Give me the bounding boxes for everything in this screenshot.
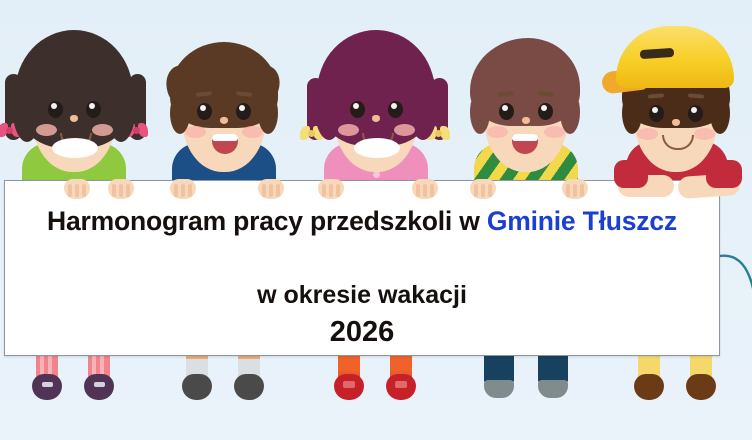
cheek-right [694,128,715,140]
eye-right [688,105,703,122]
cheek-right [242,126,263,138]
eye-right [86,101,101,118]
hand-right [108,179,134,199]
eye-left [350,101,365,118]
title-line-3-year: 2026 [5,316,719,349]
shoe-left [32,374,62,400]
sleeve-right [706,160,742,188]
hair-sideburn-left [622,92,642,134]
hand-left [470,179,496,199]
title-accent: Gminie Tłuszcz [487,206,677,236]
cheek-left [185,126,206,138]
title-line-1: Harmonogram pracy przedszkoli w Gminie T… [5,206,719,237]
cheek-left [637,128,658,140]
eye-right [388,101,403,118]
hair-sideburn-right [710,92,730,134]
hair-sideburn-right [560,90,580,134]
hand-left [318,179,344,199]
shoe-left [634,374,664,400]
cheek-left [338,124,359,136]
shoe-left [182,374,212,400]
cheek-right [394,124,415,136]
hair-sideburn-left [470,90,490,134]
cheek-right [92,124,113,136]
eye-right [236,103,251,120]
title-prefix: Harmonogram pracy przedszkoli w [47,206,487,236]
nose [522,117,530,124]
sleeve-left [614,160,648,188]
eye-left [197,103,212,120]
eye-left [48,101,63,118]
curved-line-right-icon [718,216,752,346]
cheek-left [36,124,57,136]
eye-right [538,103,553,120]
nose [372,115,380,122]
eye-left [499,103,514,120]
hand-right [562,179,588,199]
hand-left [170,179,196,199]
hand-right [258,179,284,199]
nose [70,115,78,122]
title-line-2: w okresie wakacji [5,281,719,310]
shoe-right [686,374,716,400]
nose [220,117,228,124]
eye-left [649,105,664,122]
cap [616,26,734,88]
announcement-board: Harmonogram pracy przedszkoli w Gminie T… [4,180,720,356]
shoe-right [234,374,264,400]
shoe-right [84,374,114,400]
hand-right [412,179,438,199]
shoe-right [538,380,568,398]
poster-canvas: Harmonogram pracy przedszkoli w Gminie T… [0,0,752,440]
collar [52,138,98,158]
collar [354,138,400,158]
cheek-left [487,126,508,138]
hand-left [64,179,90,199]
shoe-left [484,380,514,398]
nose [672,119,680,126]
cheek-right [544,126,565,138]
